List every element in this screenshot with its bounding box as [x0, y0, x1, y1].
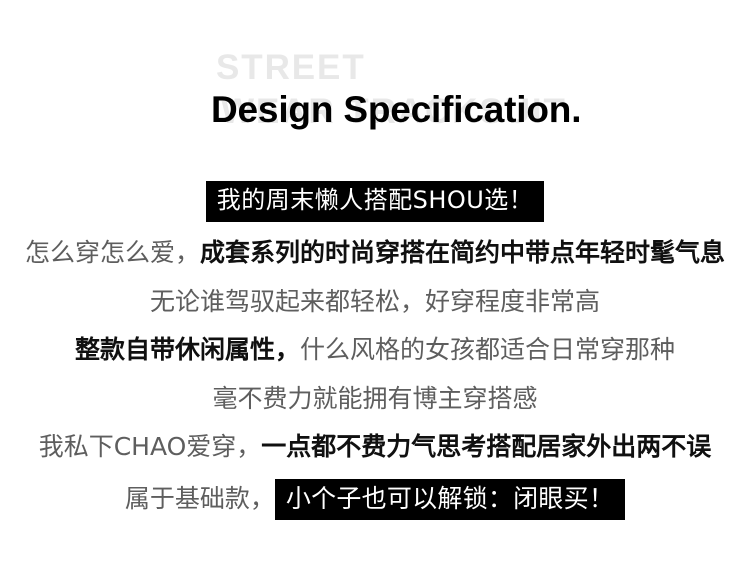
copy-line-3-segment-2: 什么风格的女孩都适合日常穿那种	[300, 335, 675, 364]
page-title: Design Specification.	[211, 88, 581, 132]
copy-line-1-segment-1: 怎么穿怎么爱，	[25, 238, 200, 267]
copy-line-4: 毫不费力就能拥有博主穿搭感	[0, 386, 750, 411]
copy-line-2-segment-1: 无论谁驾驭起来都轻松，好穿程度非常高	[150, 287, 600, 316]
copy-line-2: 无论谁驾驭起来都轻松，好穿程度非常高	[0, 289, 750, 314]
copy-line-6-highlight-text: 小个子也可以解锁：闭眼买！	[275, 479, 625, 520]
copy-line-4-segment-1: 毫不费力就能拥有博主穿搭感	[212, 384, 537, 413]
header-block: STREET WEAR TRACKSUIT Design Specificati…	[0, 0, 750, 150]
copy-line-6-segment-1: 属于基础款，	[125, 484, 275, 513]
copy-line-5: 我私下CHAO爱穿，一点都不费力气思考搭配居家外出两不误	[0, 434, 750, 459]
copy-line-5-segment-1: 我私下CHAO爱穿，	[39, 432, 262, 461]
copy-line-5-segment-2: 一点都不费力气思考搭配居家外出两不误	[261, 432, 711, 461]
copy-line-3-segment-1: 整款自带休闲属性，	[75, 335, 300, 364]
copy-line-6: 属于基础款，小个子也可以解锁：闭眼买！	[0, 479, 750, 520]
copy-line-1: 怎么穿怎么爱，成套系列的时尚穿搭在简约中带点年轻时髦气息	[0, 240, 750, 265]
copy-line-3: 整款自带休闲属性，什么风格的女孩都适合日常穿那种	[0, 337, 750, 362]
watermark-street: STREET	[216, 50, 366, 85]
copy-line-1-segment-2: 成套系列的时尚穿搭在简约中带点年轻时髦气息	[200, 238, 725, 267]
design-specification-page: STREET WEAR TRACKSUIT Design Specificati…	[0, 0, 750, 577]
banner-line: 我的周末懒人搭配SHOU选！	[0, 181, 750, 222]
banner-highlight-text: 我的周末懒人搭配SHOU选！	[206, 181, 544, 222]
